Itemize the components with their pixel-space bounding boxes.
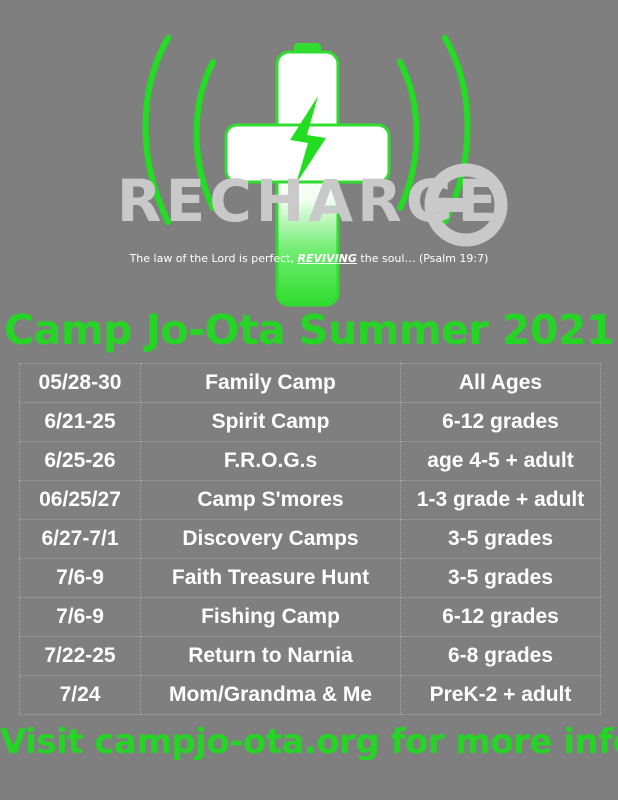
scripture-verse: The law of the Lord is perfect, REVIVING… (0, 252, 618, 265)
schedule-cell-dates: 7/6-9 (20, 559, 141, 598)
schedule-cell-dates: 06/25/27 (20, 481, 141, 520)
schedule-cell-camp: F.R.O.G.s (141, 442, 401, 481)
schedule-cell-ages: 6-12 grades (401, 598, 601, 637)
schedule-cell-camp: Fishing Camp (141, 598, 401, 637)
schedule-cell-ages: 6-12 grades (401, 403, 601, 442)
schedule-cell-ages: 3-5 grades (401, 520, 601, 559)
schedule-cell-camp: Spirit Camp (141, 403, 401, 442)
schedule-cell-dates: 6/21-25 (20, 403, 141, 442)
schedule-cell-dates: 05/28-30 (20, 364, 141, 403)
table-row: 7/6-9Faith Treasure Hunt3-5 grades (20, 559, 601, 598)
camp-flyer-poster: RECHARGE The law of the Lord is perfect,… (0, 0, 618, 800)
footer-website-info: Visit campjo-ota.org for more info (0, 722, 618, 762)
table-row: 6/27-7/1Discovery Camps3-5 grades (20, 520, 601, 559)
scripture-before: The law of the Lord is perfect, (130, 252, 298, 265)
table-row: 6/21-25Spirit Camp6-12 grades (20, 403, 601, 442)
schedule-cell-ages: PreK-2 + adult (401, 676, 601, 715)
table-row: 06/25/27Camp S'mores1-3 grade + adult (20, 481, 601, 520)
schedule-cell-camp: Mom/Grandma & Me (141, 676, 401, 715)
table-row: 05/28-30Family CampAll Ages (20, 364, 601, 403)
schedule-cell-dates: 7/6-9 (20, 598, 141, 637)
schedule-cell-camp: Discovery Camps (141, 520, 401, 559)
recharge-wordmark: RECHARGE (0, 172, 618, 230)
schedule-cell-dates: 7/24 (20, 676, 141, 715)
schedule-cell-dates: 7/22-25 (20, 637, 141, 676)
table-row: 7/22-25Return to Narnia6-8 grades (20, 637, 601, 676)
schedule-cell-ages: 6-8 grades (401, 637, 601, 676)
schedule-cell-camp: Faith Treasure Hunt (141, 559, 401, 598)
schedule-cell-camp: Camp S'mores (141, 481, 401, 520)
scripture-after: the soul… (Psalm 19:7) (357, 252, 489, 265)
table-row: 7/6-9Fishing Camp6-12 grades (20, 598, 601, 637)
table-row: 7/24Mom/Grandma & MePreK-2 + adult (20, 676, 601, 715)
page-title: Camp Jo-Ota Summer 2021 (0, 306, 618, 354)
scripture-emphasis: REVIVING (297, 252, 356, 265)
table-row: 6/25-26F.R.O.G.sage 4-5 + adult (20, 442, 601, 481)
schedule-table-container: 05/28-30Family CampAll Ages6/21-25Spirit… (19, 363, 600, 718)
schedule-cell-ages: All Ages (401, 364, 601, 403)
schedule-table-body: 05/28-30Family CampAll Ages6/21-25Spirit… (20, 364, 601, 715)
schedule-cell-camp: Family Camp (141, 364, 401, 403)
schedule-cell-ages: 1-3 grade + adult (401, 481, 601, 520)
schedule-cell-ages: age 4-5 + adult (401, 442, 601, 481)
schedule-table: 05/28-30Family CampAll Ages6/21-25Spirit… (19, 363, 601, 715)
schedule-cell-ages: 3-5 grades (401, 559, 601, 598)
recharge-logo: RECHARGE The law of the Lord is perfect,… (0, 0, 618, 310)
schedule-cell-dates: 6/25-26 (20, 442, 141, 481)
schedule-cell-dates: 6/27-7/1 (20, 520, 141, 559)
schedule-cell-camp: Return to Narnia (141, 637, 401, 676)
